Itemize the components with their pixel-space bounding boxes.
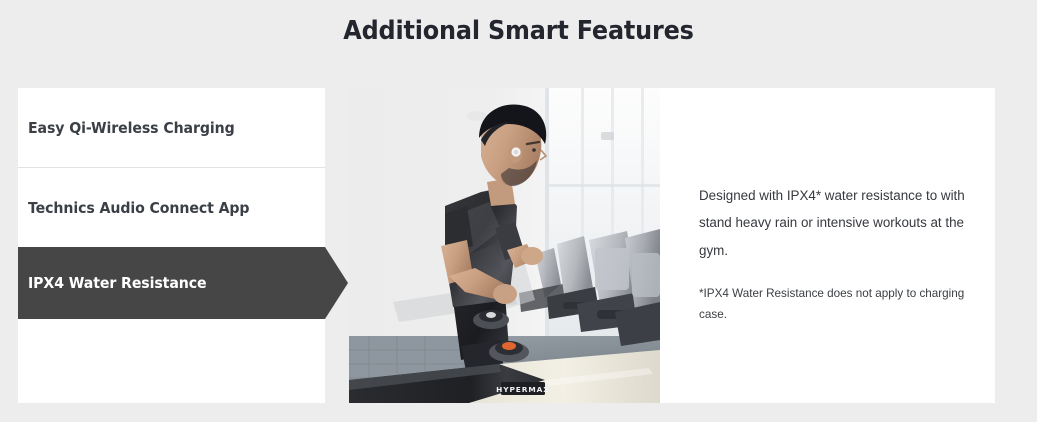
tab-label: Technics Audio Connect App bbox=[28, 199, 249, 217]
feature-image: HYPERMAX bbox=[349, 88, 660, 403]
sidebar-item-technics-audio-connect-app[interactable]: Technics Audio Connect App bbox=[18, 168, 325, 247]
feature-detail-panel: Designed with IPX4* water resistance to … bbox=[660, 88, 995, 403]
sidebar-item-ipx4-water-resistance[interactable]: IPX4 Water Resistance bbox=[18, 247, 348, 319]
page-title: Additional Smart Features bbox=[41, 16, 995, 46]
feature-showcase: Easy Qi-Wireless Charging Technics Audio… bbox=[18, 88, 995, 403]
feature-footnote: *IPX4 Water Resistance does not apply to… bbox=[699, 284, 971, 324]
feature-tab-list: Easy Qi-Wireless Charging Technics Audio… bbox=[18, 88, 325, 403]
feature-description: Designed with IPX4* water resistance to … bbox=[699, 182, 971, 264]
tab-label: Easy Qi-Wireless Charging bbox=[28, 119, 235, 137]
treadmill-brand-badge: HYPERMAX bbox=[496, 385, 550, 394]
sidebar-item-easy-qi-wireless-charging[interactable]: Easy Qi-Wireless Charging bbox=[18, 88, 325, 167]
tab-label-active: IPX4 Water Resistance bbox=[28, 274, 207, 292]
treadmill-runner-photo: HYPERMAX bbox=[349, 88, 660, 403]
